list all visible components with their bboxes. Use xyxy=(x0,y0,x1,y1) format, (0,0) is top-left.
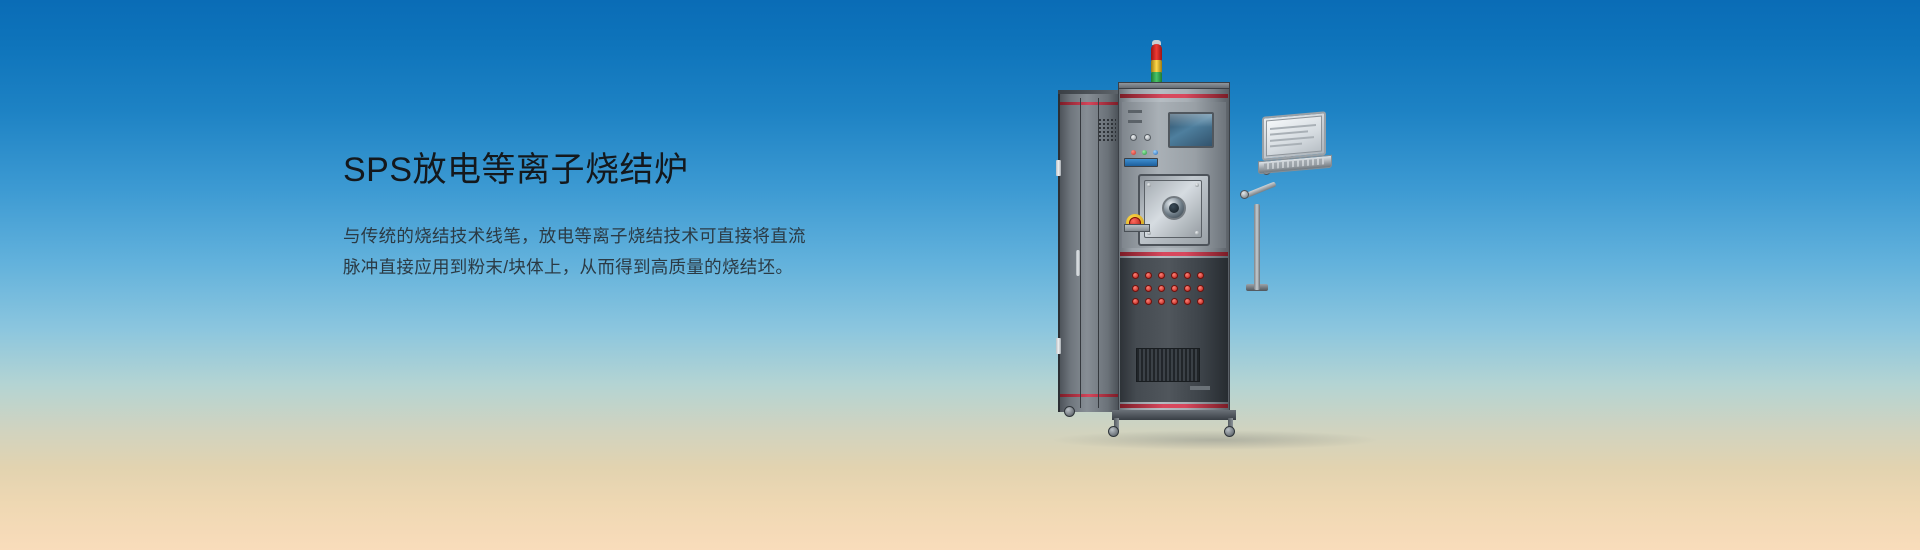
cabinet-latch xyxy=(1056,338,1061,354)
status-led-blue xyxy=(1153,150,1158,155)
machine-nameplate xyxy=(1190,386,1210,390)
chamber-bolt xyxy=(1195,231,1199,235)
indicator-button xyxy=(1184,285,1191,292)
indicator-button xyxy=(1145,285,1152,292)
cabinet-door-seam xyxy=(1080,98,1081,408)
indicator-button xyxy=(1132,298,1139,305)
chamber-bolt xyxy=(1195,183,1199,187)
cabinet-door-seam xyxy=(1098,98,1099,408)
panel-label xyxy=(1128,120,1142,123)
banner-description: 与传统的烧结技术线笔，放电等离子烧结技术可直接将直流 脉冲直接应用到粉末/块体上… xyxy=(343,221,903,283)
description-line-1: 与传统的烧结技术线笔，放电等离子烧结技术可直接将直流 xyxy=(343,221,903,252)
caster-wheel xyxy=(1064,406,1075,417)
control-knob xyxy=(1144,134,1151,141)
viewport-glass xyxy=(1169,203,1179,213)
indicator-button xyxy=(1145,298,1152,305)
indicator-button xyxy=(1132,272,1139,279)
screen-glare xyxy=(1170,114,1212,127)
lower-vent-grille xyxy=(1136,348,1200,382)
product-machine-image xyxy=(1040,18,1380,438)
indicator-button xyxy=(1184,272,1191,279)
caster-wheel xyxy=(1108,426,1119,437)
lower-panel-module xyxy=(1124,224,1150,232)
accent-stripe xyxy=(1060,102,1118,105)
indicator-button xyxy=(1158,272,1165,279)
chamber-bolt xyxy=(1147,183,1151,187)
control-knob xyxy=(1130,134,1137,141)
indicator-button-array xyxy=(1132,272,1204,306)
status-led-red xyxy=(1131,150,1136,155)
blue-control-module xyxy=(1124,158,1158,167)
arm-joint xyxy=(1240,190,1249,199)
indicator-button xyxy=(1197,298,1204,305)
banner-text-block: SPS放电等离子烧结炉 与传统的烧结技术线笔，放电等离子烧结技术可直接将直流 脉… xyxy=(343,148,903,283)
panel-label xyxy=(1128,110,1142,113)
indicator-button xyxy=(1171,285,1178,292)
accent-stripe xyxy=(1120,252,1228,256)
indicator-button xyxy=(1197,272,1204,279)
indicator-button xyxy=(1158,285,1165,292)
status-led-green xyxy=(1142,150,1147,155)
cabinet-vent-grille xyxy=(1098,118,1116,142)
cabinet-latch xyxy=(1056,160,1061,176)
machine-base xyxy=(1112,410,1236,420)
accent-stripe xyxy=(1120,404,1228,408)
indicator-button xyxy=(1145,272,1152,279)
indicator-button xyxy=(1184,298,1191,305)
page-title: SPS放电等离子烧结炉 xyxy=(343,148,903,192)
arm-column xyxy=(1254,204,1260,290)
description-line-2: 脉冲直接应用到粉末/块体上，从而得到高质量的烧结坯。 xyxy=(343,252,903,283)
caster-wheel xyxy=(1224,426,1235,437)
accent-stripe xyxy=(1120,94,1228,98)
cabinet-door-handle xyxy=(1076,250,1080,276)
accent-stripe xyxy=(1060,394,1118,397)
indicator-button xyxy=(1158,298,1165,305)
indicator-button xyxy=(1197,285,1204,292)
product-banner: SPS放电等离子烧结炉 与传统的烧结技术线笔，放电等离子烧结技术可直接将直流 脉… xyxy=(0,0,1920,550)
indicator-button xyxy=(1171,272,1178,279)
tower-red-lamp xyxy=(1151,44,1162,61)
indicator-button xyxy=(1171,298,1178,305)
indicator-button xyxy=(1132,285,1139,292)
